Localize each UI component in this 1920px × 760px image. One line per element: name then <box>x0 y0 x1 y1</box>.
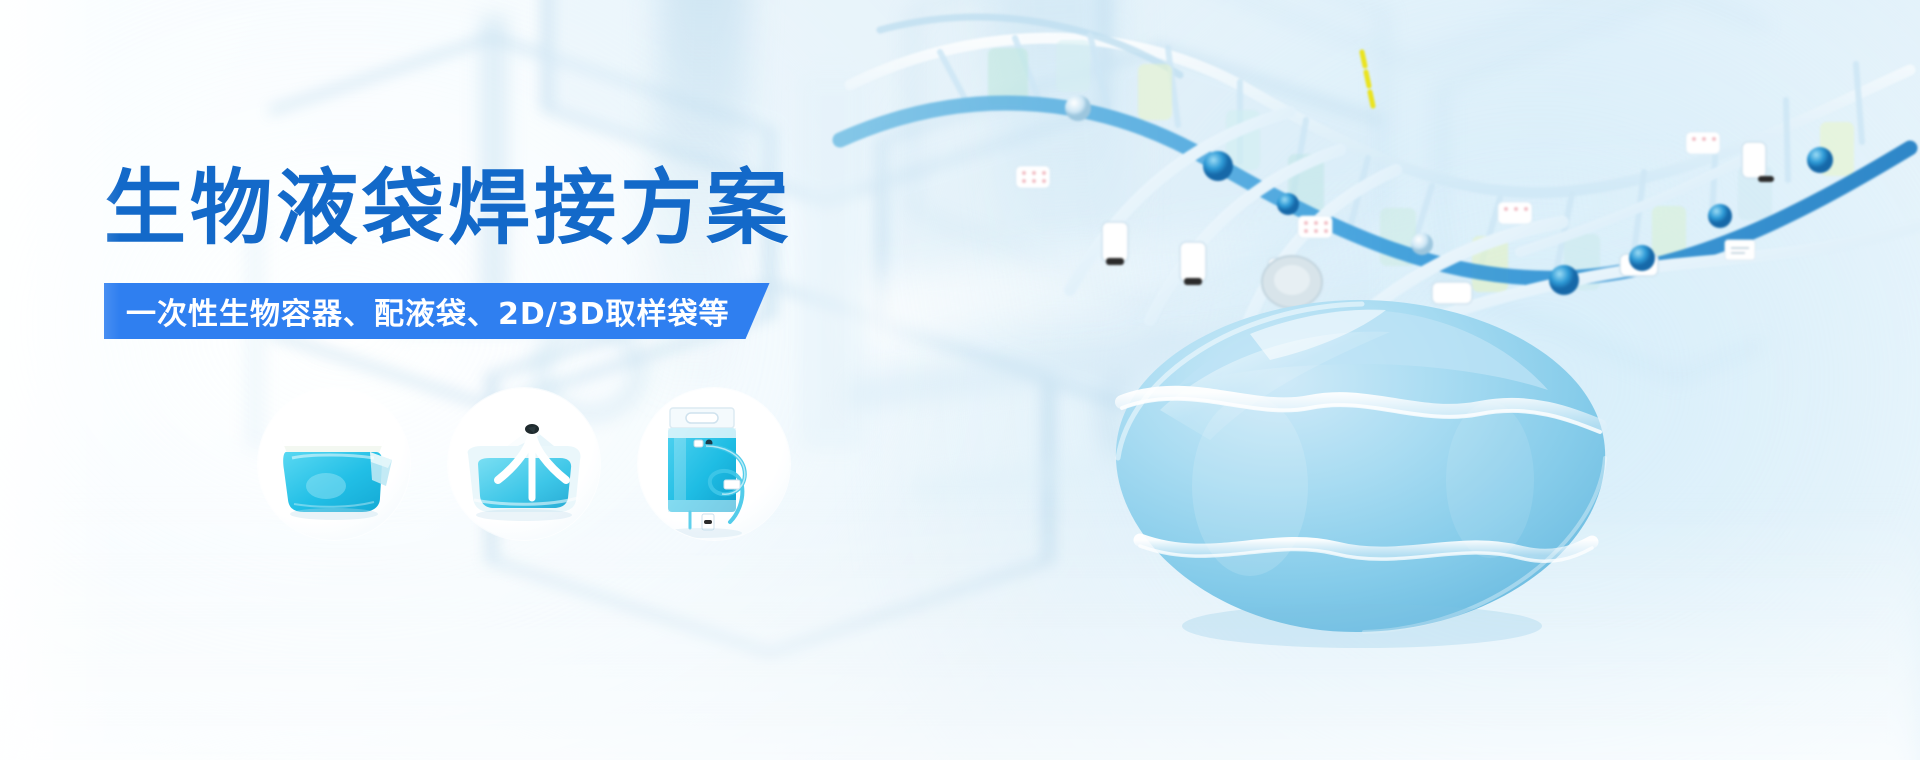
left-edge-fade <box>0 0 120 760</box>
subtitle-text: 一次性生物容器、配液袋、2D/3D取样袋等 <box>126 289 730 333</box>
2d-sampling-bag-icon <box>448 388 600 540</box>
product-thumbnail-list <box>258 388 790 540</box>
background-bottom-haze <box>0 502 1920 760</box>
thumbnail-transfer-bag-with-tubing[interactable] <box>638 388 790 540</box>
page-title: 生物液袋焊接方案 <box>104 168 792 250</box>
product-banner: 生物液袋焊接方案 一次性生物容器、配液袋、2D/3D取样袋等 <box>0 0 1920 760</box>
subtitle-ribbon: 一次性生物容器、配液袋、2D/3D取样袋等 <box>104 283 770 339</box>
pillow-liquid-bag-icon <box>258 388 410 540</box>
thumbnail-pillow-liquid-bag[interactable] <box>258 388 410 540</box>
headline-block: 生物液袋焊接方案 <box>104 168 792 250</box>
transfer-bag-with-tubing-icon <box>638 388 790 540</box>
thumbnail-2d-sampling-bag[interactable] <box>448 388 600 540</box>
bioprocess-bag-graphic <box>1100 290 1620 650</box>
